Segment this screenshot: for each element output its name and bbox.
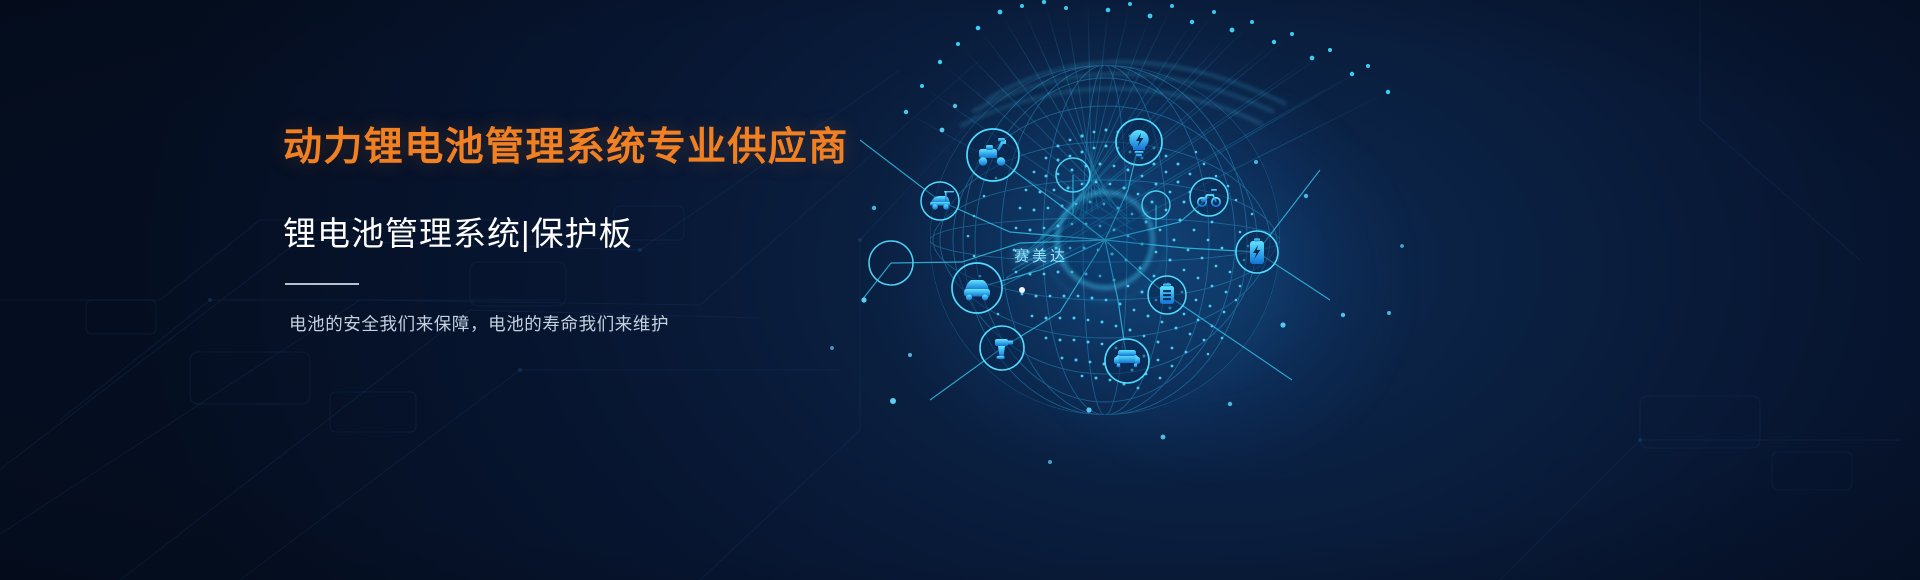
forklift-node[interactable] xyxy=(921,182,959,220)
bulb-node[interactable] xyxy=(1116,119,1162,165)
battery-node[interactable] xyxy=(1236,231,1278,273)
globe-svg xyxy=(0,0,1920,580)
scooter-node[interactable] xyxy=(967,129,1019,181)
drill-node[interactable] xyxy=(980,326,1024,370)
powerbank-icon xyxy=(1160,284,1174,304)
hero-banner: 动力锂电池管理系统专业供应商 锂电池管理系统|保护板 电池的安全我们来保障，电池… xyxy=(0,0,1920,580)
sofa-node[interactable] xyxy=(1105,339,1149,383)
car-node[interactable] xyxy=(952,263,1002,313)
battery-icon xyxy=(1250,238,1264,264)
powerbank-node[interactable] xyxy=(1148,276,1186,314)
ebike-node[interactable] xyxy=(1190,178,1228,216)
